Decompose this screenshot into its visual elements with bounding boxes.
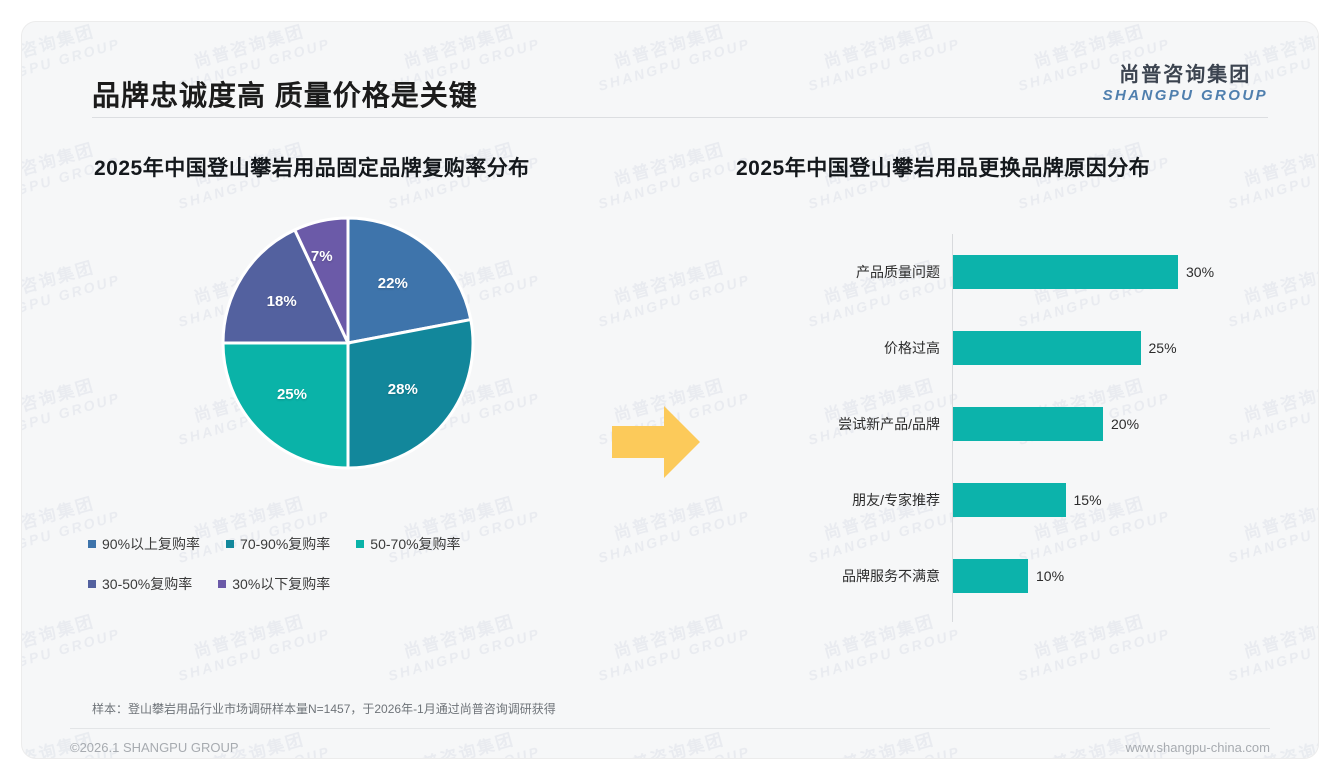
pie-slice-label: 25% xyxy=(277,386,307,403)
legend-label: 90%以上复购率 xyxy=(102,534,200,554)
bar-category-label: 价格过高 xyxy=(884,338,940,358)
bar-chart-title: 2025年中国登山攀岩用品更换品牌原因分布 xyxy=(712,152,1282,182)
bar-track xyxy=(953,559,1253,593)
bar-chart-row: 尝试新产品/品牌20% xyxy=(712,386,1282,462)
bar-category-label: 品牌服务不满意 xyxy=(842,566,940,586)
bar-chart-row: 朋友/专家推荐15% xyxy=(712,462,1282,538)
pie-slice-label: 28% xyxy=(388,381,418,398)
brand-logo: 尚普咨询集团 SHANGPU GROUP xyxy=(1103,64,1268,105)
legend-label: 30%以下复购率 xyxy=(232,574,330,594)
pie-slice-label: 22% xyxy=(378,275,408,292)
sample-footnote: 样本：登山攀岩用品行业市场调研样本量N=1457，于2026年-1月通过尚普咨询… xyxy=(92,700,556,717)
bar-track xyxy=(953,483,1253,517)
legend-swatch-icon xyxy=(356,540,364,548)
pie-chart-title: 2025年中国登山攀岩用品固定品牌复购率分布 xyxy=(70,152,670,182)
bar-chart-rows: 产品质量问题30%价格过高25%尝试新产品/品牌20%朋友/专家推荐15%品牌服… xyxy=(712,234,1282,614)
bar-fill[interactable] xyxy=(953,559,1028,593)
pie-slice-label: 18% xyxy=(267,293,297,310)
bar-fill[interactable] xyxy=(953,407,1103,441)
legend-item[interactable]: 90%以上复购率 xyxy=(88,534,200,554)
pie-chart-svg xyxy=(218,212,478,474)
legend-label: 30-50%复购率 xyxy=(102,574,192,594)
bar-value-label: 15% xyxy=(1074,492,1102,508)
legend-item[interactable]: 30%以下复购率 xyxy=(218,574,330,594)
logo-text-en: SHANGPU GROUP xyxy=(1103,87,1268,105)
footer-website: www.shangpu-china.com xyxy=(1125,740,1270,755)
bar-chart-row: 品牌服务不满意10% xyxy=(712,538,1282,614)
bar-category-label: 产品质量问题 xyxy=(856,262,940,282)
legend-swatch-icon xyxy=(226,540,234,548)
bar-track xyxy=(953,331,1253,365)
bar-fill[interactable] xyxy=(953,331,1141,365)
pie-slice-label: 7% xyxy=(311,248,333,265)
bar-chart: 产品质量问题30%价格过高25%尝试新产品/品牌20%朋友/专家推荐15%品牌服… xyxy=(712,234,1282,634)
legend-label: 70-90%复购率 xyxy=(240,534,330,554)
legend-swatch-icon xyxy=(88,580,96,588)
legend-swatch-icon xyxy=(218,580,226,588)
bar-value-label: 25% xyxy=(1149,340,1177,356)
pie-chart-panel: 2025年中国登山攀岩用品固定品牌复购率分布 22%28%25%18%7% 90… xyxy=(70,152,670,614)
bar-value-label: 20% xyxy=(1111,416,1139,432)
bar-track xyxy=(953,407,1253,441)
page-title: 品牌忠诚度高 质量价格是关键 xyxy=(92,74,478,114)
watermark: 尚普咨询集团SHANGPU GROUP xyxy=(379,719,542,758)
legend-label: 50-70%复购率 xyxy=(370,534,460,554)
legend-item[interactable]: 30-50%复购率 xyxy=(88,574,192,594)
watermark: 尚普咨询集团SHANGPU GROUP xyxy=(589,719,752,758)
bar-chart-row: 产品质量问题30% xyxy=(712,234,1282,310)
bar-value-label: 30% xyxy=(1186,264,1214,280)
bar-value-label: 10% xyxy=(1036,568,1064,584)
legend-item[interactable]: 50-70%复购率 xyxy=(356,534,460,554)
bar-chart-panel: 2025年中国登山攀岩用品更换品牌原因分布 产品质量问题30%价格过高25%尝试… xyxy=(712,152,1282,634)
pie-chart: 22%28%25%18%7% xyxy=(70,212,670,512)
legend-item[interactable]: 70-90%复购率 xyxy=(226,534,330,554)
right-arrow-icon xyxy=(608,400,704,489)
bar-category-label: 尝试新产品/品牌 xyxy=(838,414,940,434)
bar-fill[interactable] xyxy=(953,483,1066,517)
legend-row: 90%以上复购率70-90%复购率50-70%复购率 xyxy=(88,534,648,554)
footer-divider xyxy=(70,728,1270,729)
bar-chart-row: 价格过高25% xyxy=(712,310,1282,386)
logo-text-cn: 尚普咨询集团 xyxy=(1103,64,1268,87)
footer-copyright: ©2026.1 SHANGPU GROUP xyxy=(70,740,239,755)
pie-legend: 90%以上复购率70-90%复购率50-70%复购率30-50%复购率30%以下… xyxy=(70,534,648,594)
bar-category-label: 朋友/专家推荐 xyxy=(852,490,940,510)
slide-canvas: 尚普咨询集团SHANGPU GROUP尚普咨询集团SHANGPU GROUP尚普… xyxy=(22,22,1318,758)
bar-fill[interactable] xyxy=(953,255,1178,289)
header-divider xyxy=(92,117,1268,118)
legend-row: 30-50%复购率30%以下复购率 xyxy=(88,574,648,594)
slide-header: 品牌忠诚度高 质量价格是关键 尚普咨询集团 SHANGPU GROUP xyxy=(22,22,1318,118)
watermark: 尚普咨询集团SHANGPU GROUP xyxy=(799,719,962,758)
legend-swatch-icon xyxy=(88,540,96,548)
pie-slice[interactable] xyxy=(223,343,348,468)
